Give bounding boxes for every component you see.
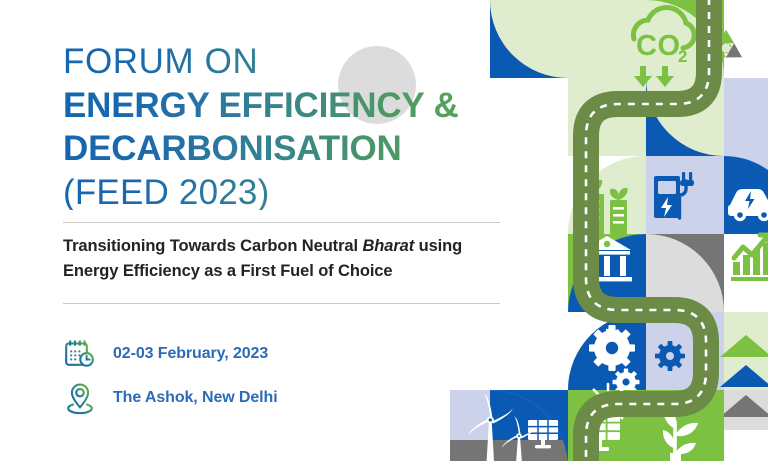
event-banner: FORUM ON ENERGY EFFICIENCY & DECARBONISA… xyxy=(0,0,768,461)
title-line-feed: (FEED 2023) xyxy=(63,175,503,210)
text-column: FORUM ON ENERGY EFFICIENCY & DECARBONISA… xyxy=(0,0,520,461)
event-venue-row: The Ashok, New Delhi xyxy=(63,376,278,420)
co2-subscript: 2 xyxy=(678,47,687,66)
page-title: FORUM ON ENERGY EFFICIENCY & DECARBONISA… xyxy=(63,44,503,210)
event-meta: 02-03 February, 2023 The Ashok, New xyxy=(63,332,278,420)
subtitle: Transitioning Towards Carbon Neutral Bha… xyxy=(63,234,513,284)
location-pin-icon xyxy=(63,381,97,415)
title-line-energy: ENERGY EFFICIENCY & xyxy=(63,88,503,123)
title-line-decarb: DECARBONISATION xyxy=(63,131,503,166)
subtitle-part1: Transitioning Towards Carbon Neutral xyxy=(63,237,362,255)
divider-bottom xyxy=(63,303,500,304)
event-date-label: 02-03 February, 2023 xyxy=(113,345,268,363)
event-venue-label: The Ashok, New Delhi xyxy=(113,389,278,407)
subtitle-emphasis: Bharat xyxy=(362,237,414,255)
title-line-forum: FORUM ON xyxy=(63,44,503,79)
divider-top xyxy=(63,222,500,223)
calendar-clock-icon xyxy=(63,337,97,371)
co2-label: CO xyxy=(636,30,681,62)
event-date-row: 02-03 February, 2023 xyxy=(63,332,278,376)
